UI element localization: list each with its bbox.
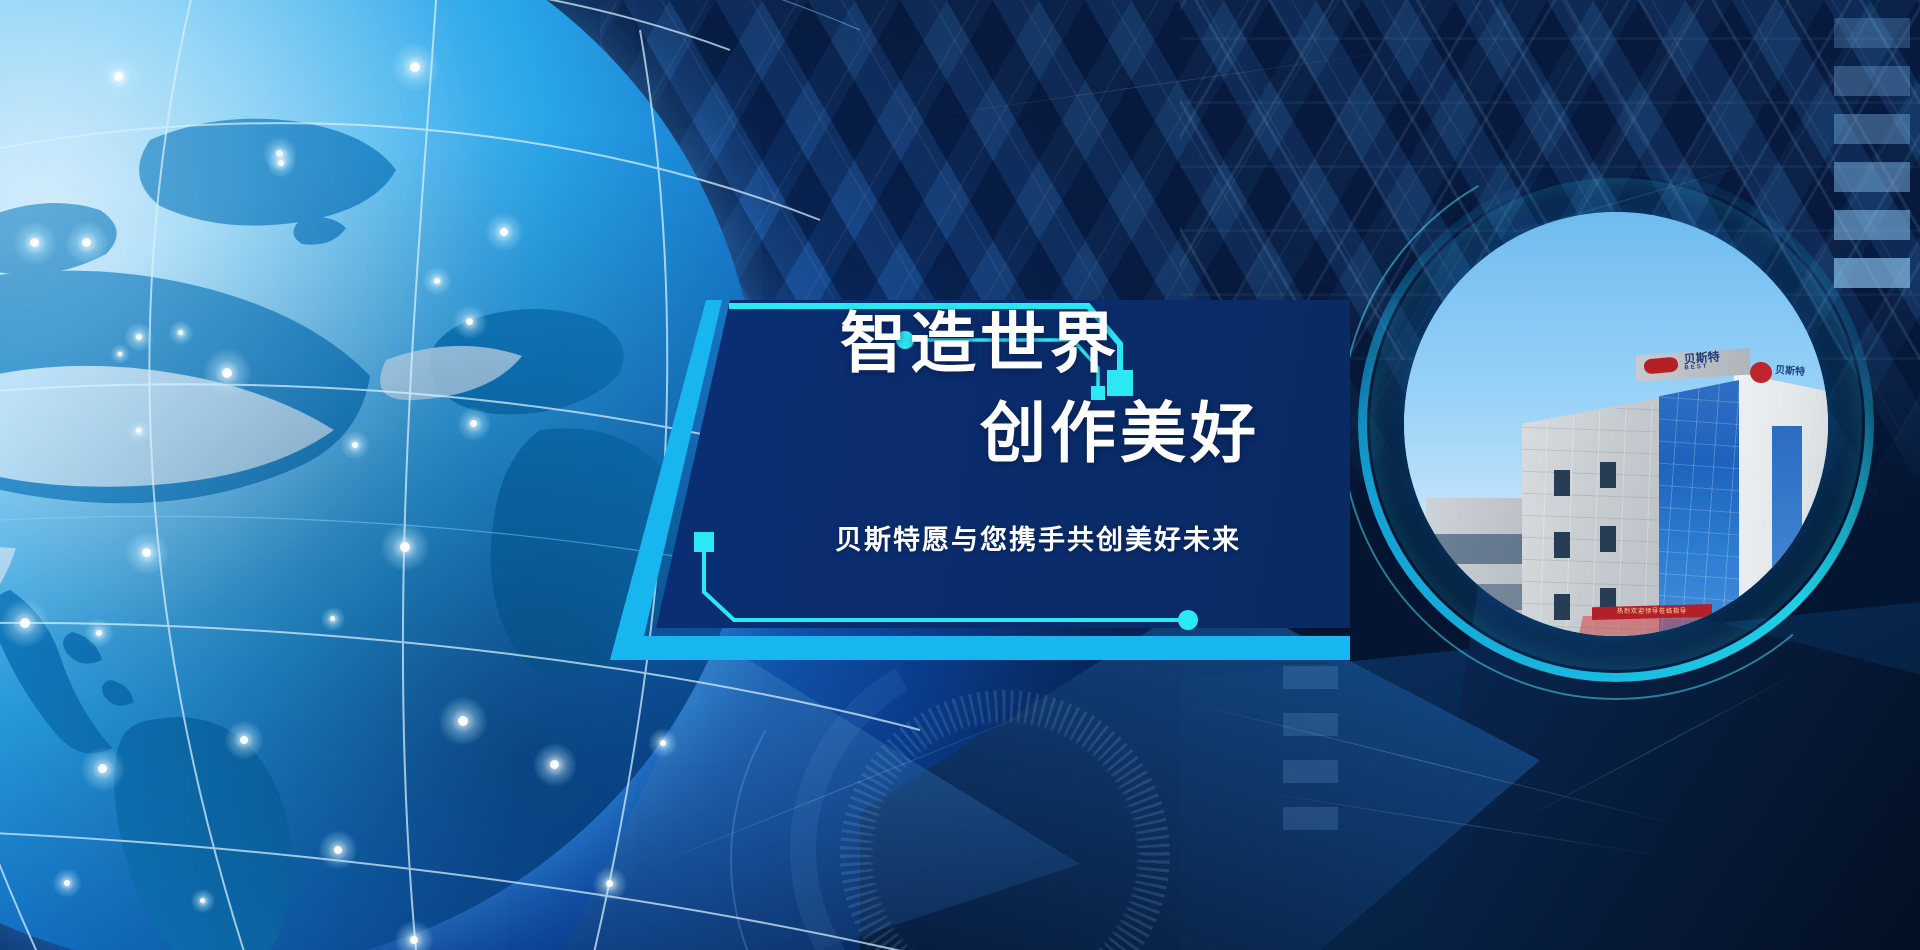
network-node (500, 228, 508, 236)
network-node (550, 760, 559, 769)
network-node (142, 548, 151, 557)
right-edge-decor-blocks (1834, 18, 1920, 306)
network-node (410, 936, 418, 944)
network-node (30, 238, 39, 247)
edge-block-6 (1834, 258, 1910, 288)
network-node (118, 352, 122, 356)
bottom-block-3 (1283, 760, 1338, 783)
network-node (222, 368, 232, 378)
network-node (466, 318, 473, 325)
network-node (96, 630, 102, 636)
network-node (352, 442, 358, 448)
network-node (20, 618, 30, 628)
bottom-block-4 (1283, 807, 1338, 830)
network-node (660, 740, 666, 746)
network-node (114, 72, 123, 81)
bottom-decor-blocks (1283, 666, 1343, 854)
bottom-block-2 (1283, 713, 1338, 736)
headline-panel: 智造世界 创作美好 贝斯特愿与您携手共创美好未来 (610, 300, 1350, 660)
network-node (400, 542, 410, 552)
network-node (458, 716, 468, 726)
network-node (178, 330, 183, 335)
network-node (64, 880, 70, 886)
edge-block-1 (1834, 18, 1910, 48)
network-node (136, 428, 141, 433)
photo-inner-glow (1370, 178, 1862, 670)
network-node (330, 616, 335, 621)
network-node (410, 62, 420, 72)
headline-subtitle: 贝斯特愿与您携手共创美好未来 (835, 518, 1241, 557)
hero-banner: 贝斯特 BEST 贝斯特 热烈欢迎领导莅临指导 智造世界 创作美好 (0, 0, 1920, 950)
network-node (434, 278, 440, 284)
network-node (200, 898, 205, 903)
network-node (98, 764, 107, 773)
headline-line-2: 创作美好 (980, 400, 1260, 466)
network-node (334, 846, 342, 854)
network-node (470, 420, 477, 427)
network-node (240, 736, 248, 744)
network-node (136, 334, 142, 340)
edge-block-4 (1834, 162, 1910, 192)
edge-block-3 (1834, 114, 1910, 144)
edge-block-2 (1834, 66, 1910, 96)
bottom-block-1 (1283, 666, 1338, 689)
network-node (606, 880, 613, 887)
network-node (278, 160, 284, 166)
network-node (82, 238, 91, 247)
headline-line-1: 智造世界 (840, 310, 1120, 376)
edge-block-5 (1834, 210, 1910, 240)
